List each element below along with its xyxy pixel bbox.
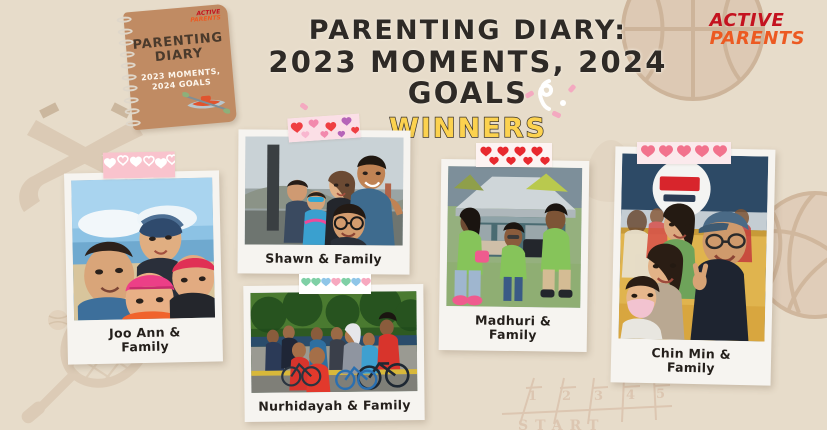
winner-caption-shawn: Shawn & Family [244, 244, 402, 274]
winner-photo-nurhidayah [250, 291, 417, 393]
svg-text:3: 3 [594, 389, 603, 404]
spiral-ring [116, 16, 131, 23]
spiral-ring [125, 120, 140, 127]
spiral-ring [120, 62, 135, 69]
winner-photo-madhuri [446, 166, 582, 308]
kayak-icon [182, 82, 231, 120]
winner-card-shawn[interactable]: Shawn & Family [237, 129, 410, 275]
caption-line-2: Family [489, 327, 537, 343]
spiral-ring [118, 39, 133, 46]
caption-line-1: Chin Min & [651, 345, 731, 362]
svg-text:2: 2 [562, 389, 571, 404]
winner-card-nurhidayah[interactable]: Nurhidayah & Family [243, 284, 424, 422]
spiral-ring [122, 85, 137, 92]
svg-text:START: START [518, 418, 605, 430]
winners-label: WINNERS [389, 113, 547, 144]
caption-line-2: Family [667, 360, 715, 376]
parenting-diary-book: ACTIVE PARENTS PARENTING DIARY 2023 MOME… [123, 4, 237, 131]
spiral-ring [117, 28, 132, 35]
caption-line-1: Shawn & Family [265, 251, 382, 267]
washi-tape-joo-ann [103, 151, 175, 178]
svg-text:4: 4 [626, 388, 635, 403]
diary-logo-parents: PARENTS [190, 15, 221, 24]
svg-text:1: 1 [528, 389, 537, 404]
diary-title: PARENTING DIARY [125, 31, 231, 67]
caption-line-1: Madhuri & [475, 312, 551, 328]
spiral-ring [121, 74, 136, 81]
logo-line-parents: PARENTS [710, 30, 805, 48]
diary-logo: ACTIVE PARENTS [190, 9, 222, 24]
winner-caption-nurhidayah: Nurhidayah & Family [251, 391, 417, 422]
svg-text:5: 5 [656, 387, 665, 402]
poster-canvas: 12 345 START PARENTING DIARY: 2023 MOMEN… [0, 0, 827, 430]
winner-card-joo-ann[interactable]: Joo Ann & Family [64, 170, 223, 364]
washi-tape-nurhidayah [299, 274, 371, 294]
page-title-line-2: 2023 MOMENTS, 2024 GOALS [228, 47, 708, 110]
winner-photo-chin-min [618, 153, 768, 341]
page-title-line-1: PARENTING DIARY: [228, 16, 708, 45]
caption-line-1: Joo Ann & [109, 324, 181, 340]
winner-card-madhuri[interactable]: Madhuri & Family [439, 159, 590, 352]
washi-tape-shawn [287, 114, 360, 143]
spiral-ring [119, 51, 134, 58]
winner-caption-madhuri: Madhuri & Family [446, 306, 581, 352]
washi-tape-chin-min [637, 142, 731, 164]
winner-caption-joo-ann: Joo Ann & Family [74, 318, 216, 365]
caption-line-1: Nurhidayah & Family [258, 397, 411, 414]
caption-line-2: Family [121, 339, 169, 355]
spiral-ring [124, 108, 139, 115]
winner-photo-joo-ann [71, 178, 215, 321]
winner-photo-shawn [245, 136, 404, 245]
spiral-ring [123, 97, 138, 104]
active-parents-logo: ACTIVE PARENTS [710, 12, 805, 49]
winner-caption-chin-min: Chin Min & Family [618, 338, 765, 385]
winner-card-chin-min[interactable]: Chin Min & Family [611, 146, 776, 385]
washi-tape-madhuri [476, 143, 552, 167]
